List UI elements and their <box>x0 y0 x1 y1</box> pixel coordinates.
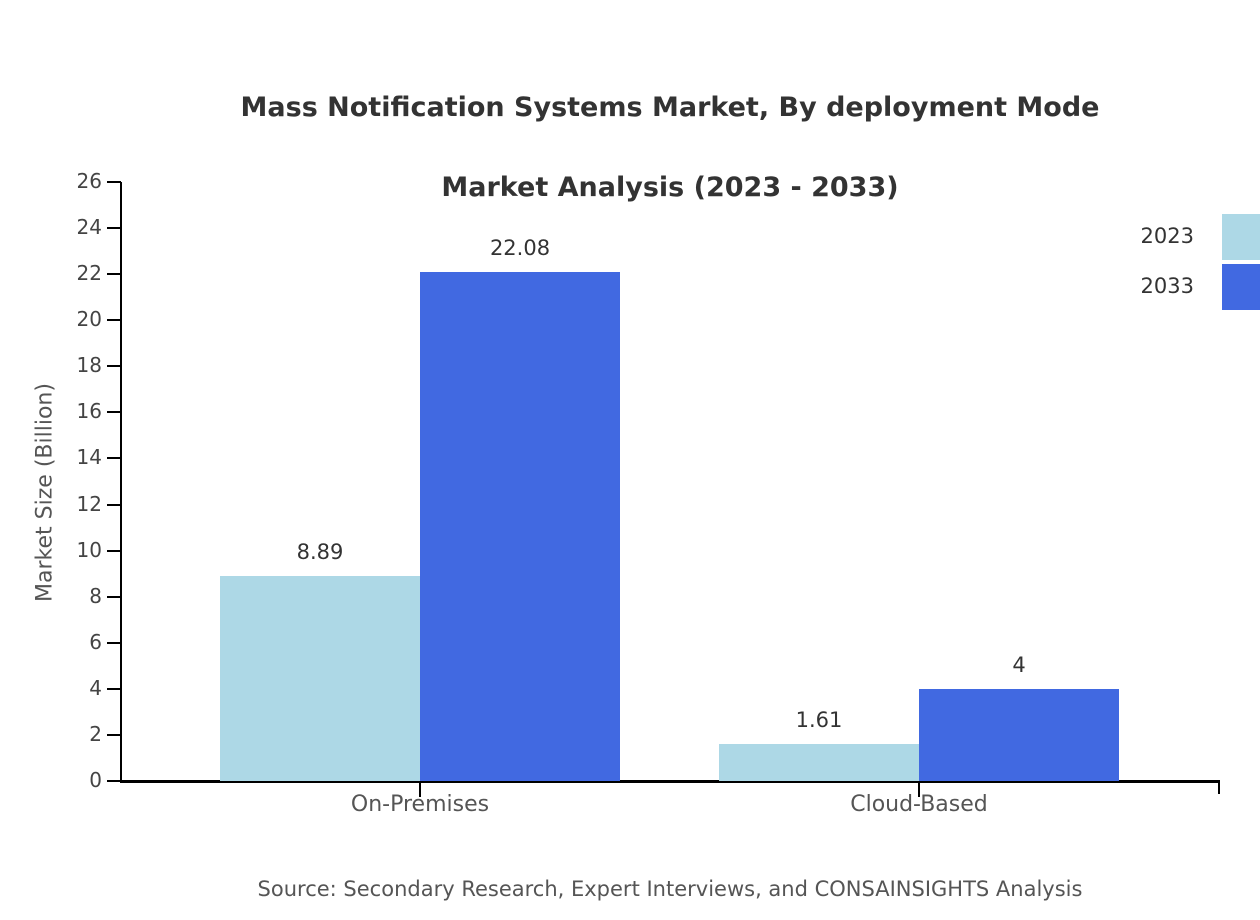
y-tick-label-8: 8 <box>42 584 102 608</box>
y-tick-label-26: 26 <box>42 169 102 193</box>
y-tick-24 <box>107 227 121 229</box>
source-note: Source: Secondary Research, Expert Inter… <box>0 877 1260 901</box>
y-tick-6 <box>107 642 121 644</box>
y-tick-label-0: 0 <box>42 768 102 792</box>
y-tick-22 <box>107 273 121 275</box>
y-tick-label-10: 10 <box>42 538 102 562</box>
bar-cloud-based-2023[interactable] <box>719 744 919 781</box>
y-tick-label-20: 20 <box>42 307 102 331</box>
bar-value-label-cloud-based-2023: 1.61 <box>719 708 919 732</box>
y-tick-12 <box>107 504 121 506</box>
y-tick-label-4: 4 <box>42 676 102 700</box>
x-axis-right-cap <box>1218 780 1220 794</box>
y-tick-label-14: 14 <box>42 445 102 469</box>
y-tick-8 <box>107 596 121 598</box>
legend-label-2023: 2023 <box>1110 224 1194 248</box>
y-tick-label-18: 18 <box>42 353 102 377</box>
legend-swatch-2033 <box>1222 264 1260 310</box>
y-tick-0 <box>107 780 121 782</box>
y-tick-label-2: 2 <box>42 722 102 746</box>
y-tick-14 <box>107 457 121 459</box>
y-tick-label-6: 6 <box>42 630 102 654</box>
legend-label-2033: 2033 <box>1110 274 1194 298</box>
y-tick-20 <box>107 319 121 321</box>
y-tick-label-22: 22 <box>42 261 102 285</box>
y-tick-label-24: 24 <box>42 215 102 239</box>
bar-value-label-on-premises-2023: 8.89 <box>220 540 420 564</box>
bar-value-label-on-premises-2033: 22.08 <box>420 236 620 260</box>
y-axis-spine <box>120 182 122 783</box>
legend-swatch-2023 <box>1222 214 1260 260</box>
y-tick-10 <box>107 550 121 552</box>
y-tick-4 <box>107 688 121 690</box>
plot-area: Market Size (Billion) 024681012141618202… <box>0 0 1260 920</box>
y-tick-16 <box>107 411 121 413</box>
bar-value-label-cloud-based-2033: 4 <box>919 653 1119 677</box>
y-tick-label-12: 12 <box>42 492 102 516</box>
y-tick-2 <box>107 734 121 736</box>
y-tick-label-16: 16 <box>42 399 102 423</box>
x-axis-label-on-premises: On-Premises <box>270 792 570 817</box>
y-tick-26 <box>107 181 121 183</box>
bar-on-premises-2033[interactable] <box>420 272 620 781</box>
x-axis-label-cloud-based: Cloud-Based <box>769 792 1069 817</box>
bar-cloud-based-2033[interactable] <box>919 689 1119 781</box>
y-tick-18 <box>107 365 121 367</box>
bar-on-premises-2023[interactable] <box>220 576 420 781</box>
